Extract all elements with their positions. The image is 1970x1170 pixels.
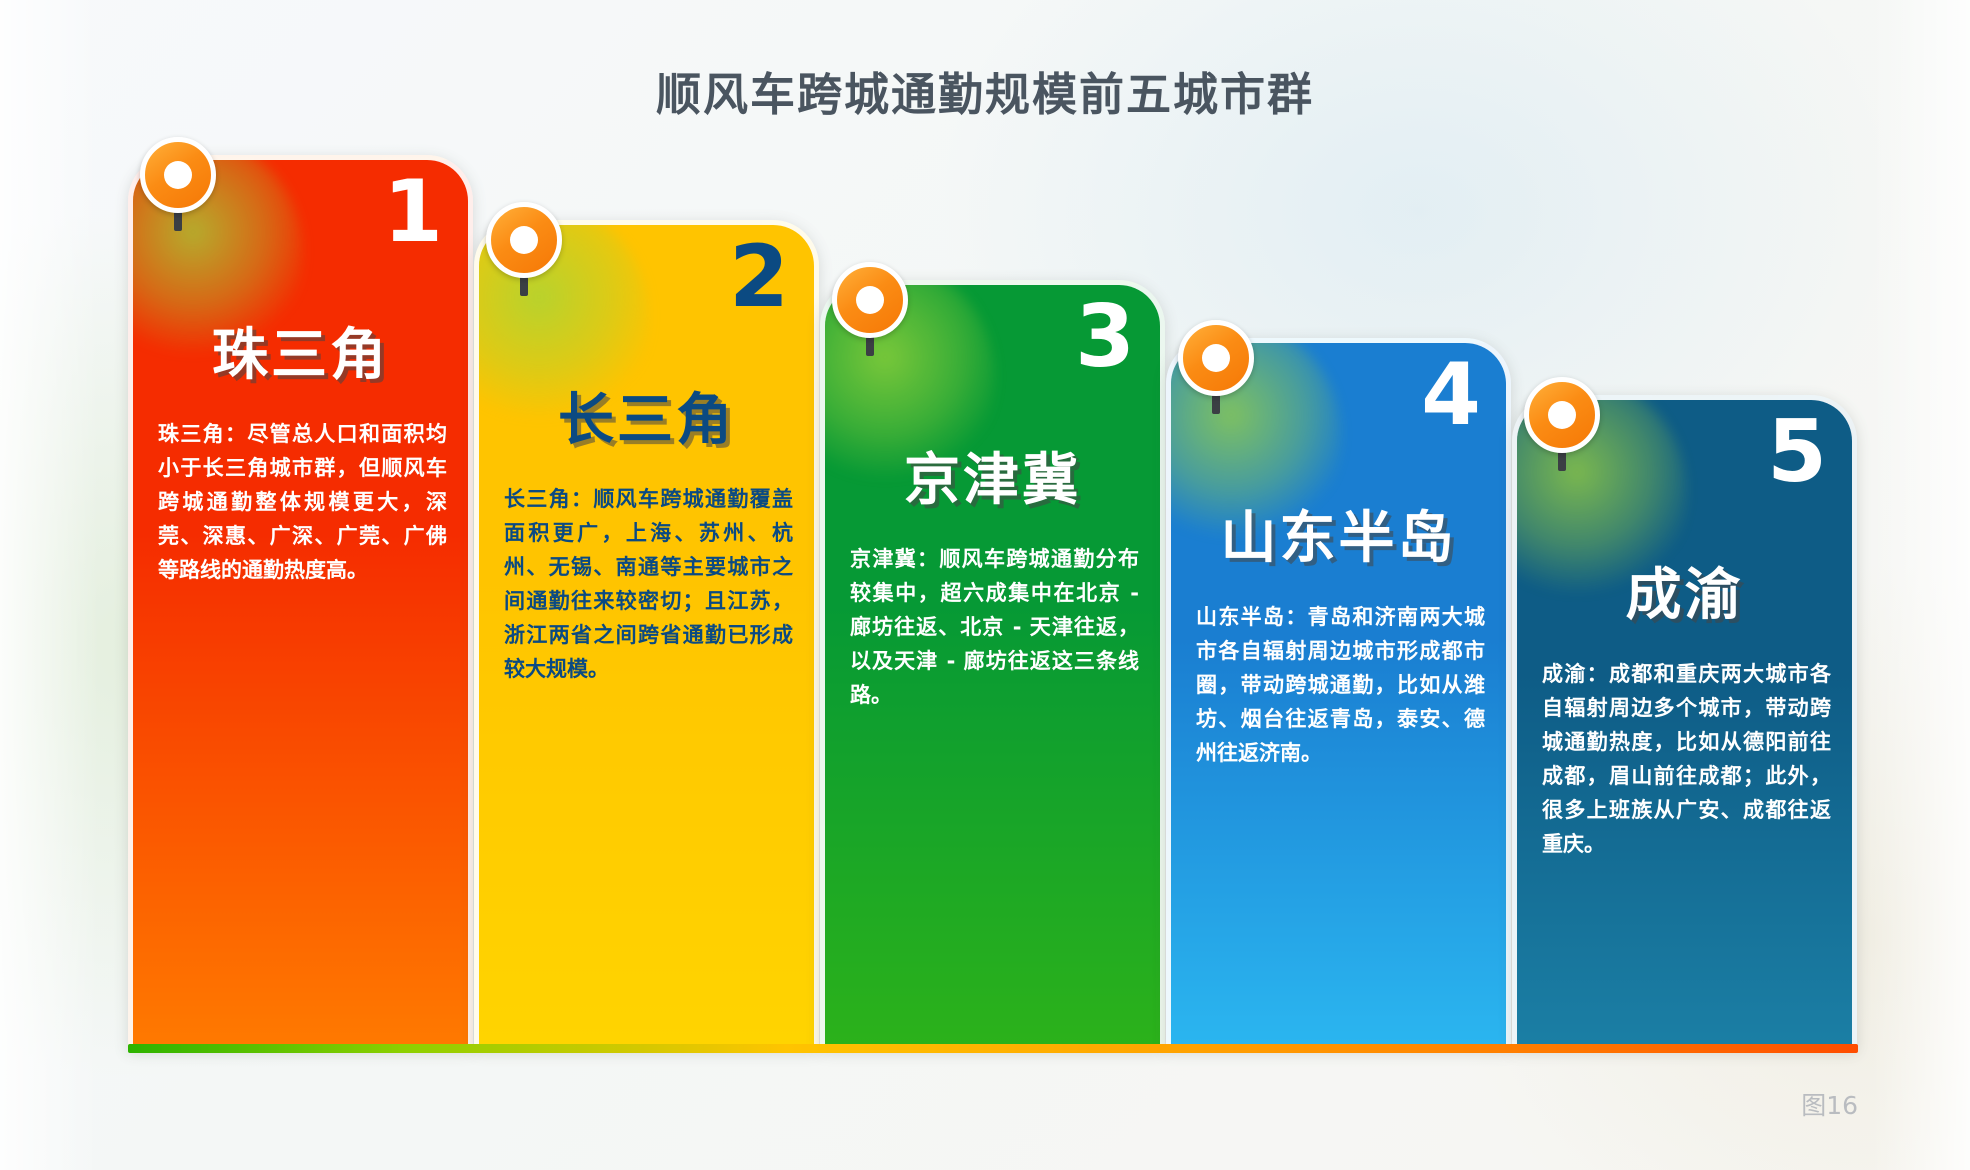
rank-number: 2 <box>729 234 789 320</box>
map-pin-icon[interactable] <box>1178 320 1254 396</box>
rank-number: 5 <box>1767 409 1827 495</box>
rank-number: 4 <box>1421 352 1481 438</box>
region-description: 珠三角：尽管总人口和面积均小于长三角城市群，但顺风车跨城通勤整体规模更大，深莞、… <box>158 417 447 587</box>
bar-2-2[interactable]: 2长三角长三角：顺风车跨城通勤覆盖面积更广，上海、苏州、杭州、无锡、南通等主要城… <box>474 220 819 1050</box>
ranking-bar-chart: 1珠三角珠三角：尽管总人口和面积均小于长三角城市群，但顺风车跨城通勤整体规模更大… <box>128 150 1858 1050</box>
rank-number: 1 <box>383 169 443 255</box>
chart-baseline <box>128 1044 1858 1053</box>
region-description: 山东半岛：青岛和济南两大城市各自辐射周边城市形成都市圈，带动跨城通勤，比如从潍坊… <box>1196 600 1485 770</box>
region-name: 珠三角 <box>128 310 473 391</box>
bar-fill <box>128 155 473 1050</box>
bar-4-4[interactable]: 4山东半岛山东半岛：青岛和济南两大城市各自辐射周边城市形成都市圈，带动跨城通勤，… <box>1166 338 1511 1050</box>
region-description: 京津冀：顺风车跨城通勤分布较集中，超六成集中在北京 - 廊坊往返、北京 - 天津… <box>850 542 1139 712</box>
pin-center-dot <box>510 226 538 254</box>
map-pin-icon[interactable] <box>486 202 562 278</box>
map-pin-icon[interactable] <box>140 137 216 213</box>
region-description: 长三角：顺风车跨城通勤覆盖面积更广，上海、苏州、杭州、无锡、南通等主要城市之间通… <box>504 482 793 686</box>
region-name: 长三角 <box>474 375 819 456</box>
bar-3-3[interactable]: 3京津冀京津冀：顺风车跨城通勤分布较集中，超六成集中在北京 - 廊坊往返、北京 … <box>820 280 1165 1050</box>
figure-label: 图16 <box>1801 1086 1858 1122</box>
infographic-stage: 顺风车跨城通勤规模前五城市群 1珠三角珠三角：尽管总人口和面积均小于长三角城市群… <box>0 0 1970 1170</box>
region-name: 成渝 <box>1512 550 1857 631</box>
rank-number: 3 <box>1075 294 1135 380</box>
page-title: 顺风车跨城通勤规模前五城市群 <box>0 58 1970 123</box>
region-description: 成渝：成都和重庆两大城市各自辐射周边多个城市，带动跨城通勤热度，比如从德阳前往成… <box>1542 657 1831 861</box>
pin-center-dot <box>1202 344 1230 372</box>
bar-5-5[interactable]: 5成渝成渝：成都和重庆两大城市各自辐射周边多个城市，带动跨城通勤热度，比如从德阳… <box>1512 395 1857 1050</box>
pin-center-dot <box>856 286 884 314</box>
pin-center-dot <box>164 161 192 189</box>
map-pin-icon[interactable] <box>832 262 908 338</box>
pin-center-dot <box>1548 401 1576 429</box>
region-name: 山东半岛 <box>1166 493 1511 574</box>
map-pin-icon[interactable] <box>1524 377 1600 453</box>
region-name: 京津冀 <box>820 435 1165 516</box>
bar-1-1[interactable]: 1珠三角珠三角：尽管总人口和面积均小于长三角城市群，但顺风车跨城通勤整体规模更大… <box>128 155 473 1050</box>
